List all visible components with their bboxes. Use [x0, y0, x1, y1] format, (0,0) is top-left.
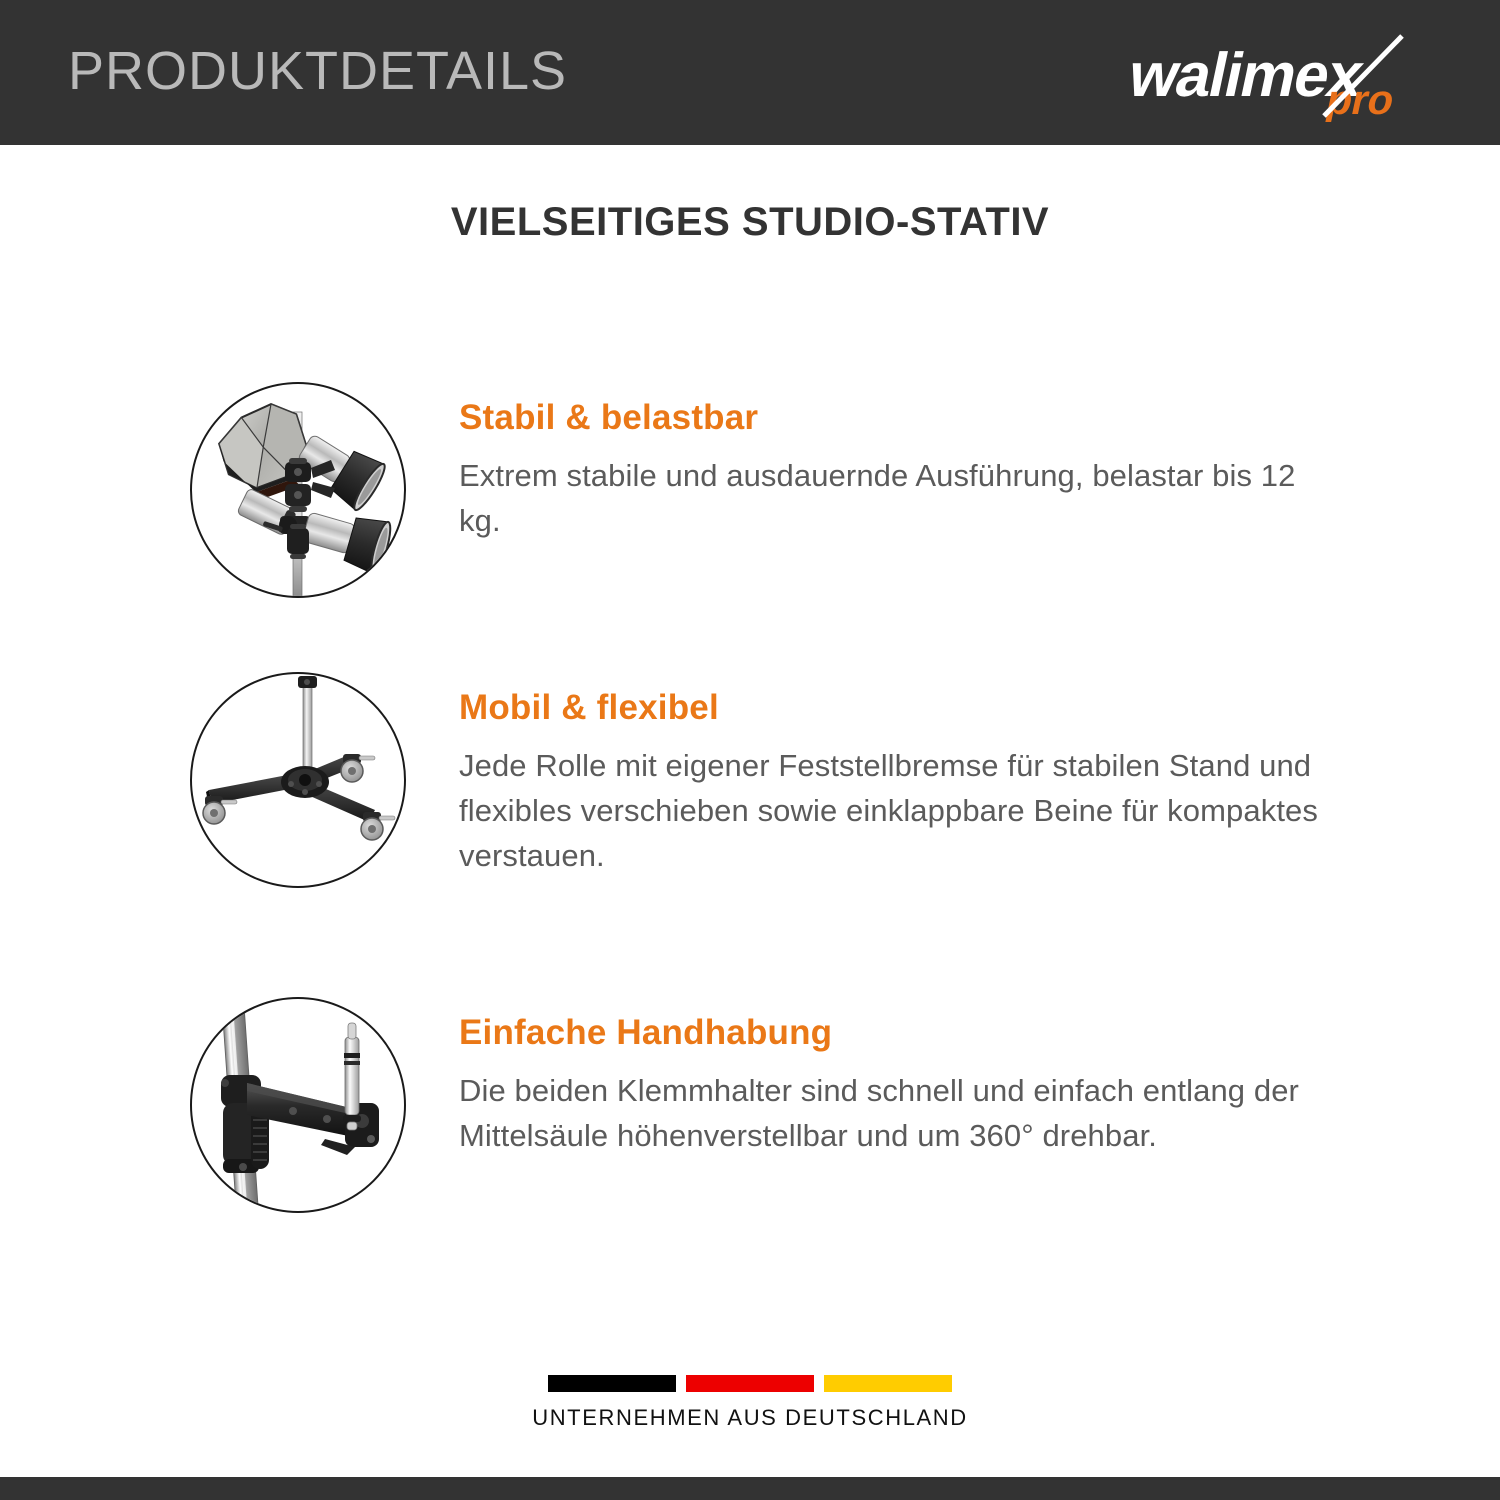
- feature-title: Mobil & flexibel: [459, 688, 1339, 728]
- german-flag-bars: [548, 1375, 952, 1392]
- logo-artwork: walimex pro: [1102, 30, 1432, 122]
- page-title: PRODUKTDETAILS: [68, 44, 567, 98]
- studio-light-heads-on-stand-photo: [185, 372, 415, 602]
- feature-text-block: Einfache Handhabung Die beiden Klemmhalt…: [459, 987, 1339, 1159]
- rolling-tripod-base-with-casters-photo: [185, 662, 415, 892]
- footer-origin-badge: UNTERNEHMEN AUS DEUTSCHLAND: [0, 1375, 1500, 1431]
- feature-item: Stabil & belastbar Extrem stabile und au…: [0, 372, 1500, 662]
- product-details-page: PRODUKTDETAILS walimex pro VIELSEITIGES …: [0, 0, 1500, 1500]
- flag-bar-gold: [824, 1375, 952, 1392]
- logo-wordmark-pro: pro: [1322, 76, 1398, 122]
- feature-item: Mobil & flexibel Jede Rolle mit eigener …: [0, 662, 1500, 987]
- feature-body: Die beiden Klemmhalter sind schnell und …: [459, 1069, 1339, 1159]
- flag-bar-red: [686, 1375, 814, 1392]
- footer-text: UNTERNEHMEN AUS DEUTSCHLAND: [532, 1405, 968, 1431]
- clamp-holder-illustration: [185, 987, 415, 1217]
- light-heads-illustration: [185, 372, 415, 602]
- tripod-base-illustration: [185, 662, 415, 892]
- feature-text-block: Mobil & flexibel Jede Rolle mit eigener …: [459, 662, 1339, 879]
- feature-title: Einfache Handhabung: [459, 1013, 1339, 1053]
- footer-bar: [0, 1477, 1500, 1500]
- feature-text-block: Stabil & belastbar Extrem stabile und au…: [459, 372, 1339, 544]
- feature-list: Stabil & belastbar Extrem stabile und au…: [0, 372, 1500, 987]
- walimex-pro-logo: walimex pro: [1102, 30, 1432, 122]
- flag-bar-black: [548, 1375, 676, 1392]
- feature-body: Extrem stabile und ausdauernde Ausführun…: [459, 454, 1339, 544]
- feature-body: Jede Rolle mit eigener Feststellbremse f…: [459, 744, 1339, 879]
- main-heading: VIELSEITIGES STUDIO-STATIV: [0, 200, 1500, 244]
- feature-title: Stabil & belastbar: [459, 398, 1339, 438]
- clamp-holder-boom-arm-with-spigot-photo: [185, 987, 415, 1217]
